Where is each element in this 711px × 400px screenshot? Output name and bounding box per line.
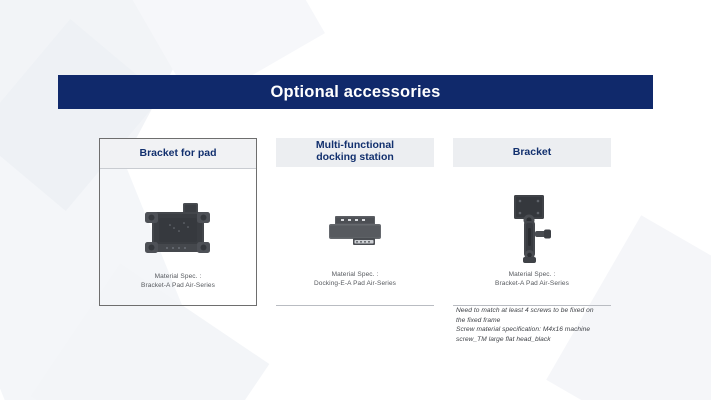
accessory-card-title-line1: Multi-functional	[316, 139, 394, 151]
accessory-card-header: Bracket	[453, 138, 611, 167]
footnote-line-2: the fixed frame	[456, 316, 624, 326]
accessory-card-title: Bracket for pad	[139, 148, 216, 160]
accessory-card-title-line2: docking station	[316, 151, 394, 163]
spec-value: Bracket-A Pad Air-Series	[495, 280, 569, 287]
accessory-card-body: Material Spec. : Bracket-A Pad Air-Serie…	[100, 169, 256, 308]
bracket-for-pad-image	[100, 197, 256, 267]
accessory-spec-text: Material Spec. : Bracket-A Pad Air-Serie…	[453, 271, 611, 288]
accessory-spec-text: Material Spec. : Docking-E-A Pad Air-Ser…	[276, 271, 434, 288]
accessory-card-title: Multi-functional docking station	[316, 140, 394, 163]
page-title: Optional accessories	[271, 83, 441, 102]
footnote-line-4: screw_TM large flat head_black	[456, 335, 624, 345]
accessory-card-title: Bracket	[513, 147, 552, 159]
accessory-card-body: Material Spec. : Bracket-A Pad Air-Serie…	[453, 167, 611, 306]
spec-label: Material Spec. :	[155, 273, 202, 280]
accessory-spec-text: Material Spec. : Bracket-A Pad Air-Serie…	[100, 273, 256, 290]
accessory-card-bracket-for-pad: Bracket for pad	[99, 138, 257, 306]
spec-value: Bracket-A Pad Air-Series	[141, 282, 215, 289]
footnote-line-3: Screw material specification: M4x16 mach…	[456, 325, 624, 335]
docking-station-image	[276, 205, 434, 259]
accessory-card-header: Bracket for pad	[100, 139, 256, 169]
footnote-line-1: Need to match at least 4 screws to be fi…	[456, 306, 624, 316]
slide-canvas: Optional accessories Bracket for pad	[0, 0, 711, 400]
footnote-note: Need to match at least 4 screws to be fi…	[456, 306, 624, 344]
spec-value: Docking-E-A Pad Air-Series	[314, 280, 396, 287]
bracket-image	[453, 191, 611, 267]
accessory-card-header: Multi-functional docking station	[276, 138, 434, 167]
spec-label: Material Spec. :	[332, 271, 379, 278]
accessory-card-body: Material Spec. : Docking-E-A Pad Air-Ser…	[276, 167, 434, 306]
accessory-card-docking-station: Multi-functional docking station	[276, 138, 434, 306]
spec-label: Material Spec. :	[509, 271, 556, 278]
accessory-card-bracket: Bracket	[453, 138, 611, 306]
slide-title-banner: Optional accessories	[58, 75, 653, 109]
